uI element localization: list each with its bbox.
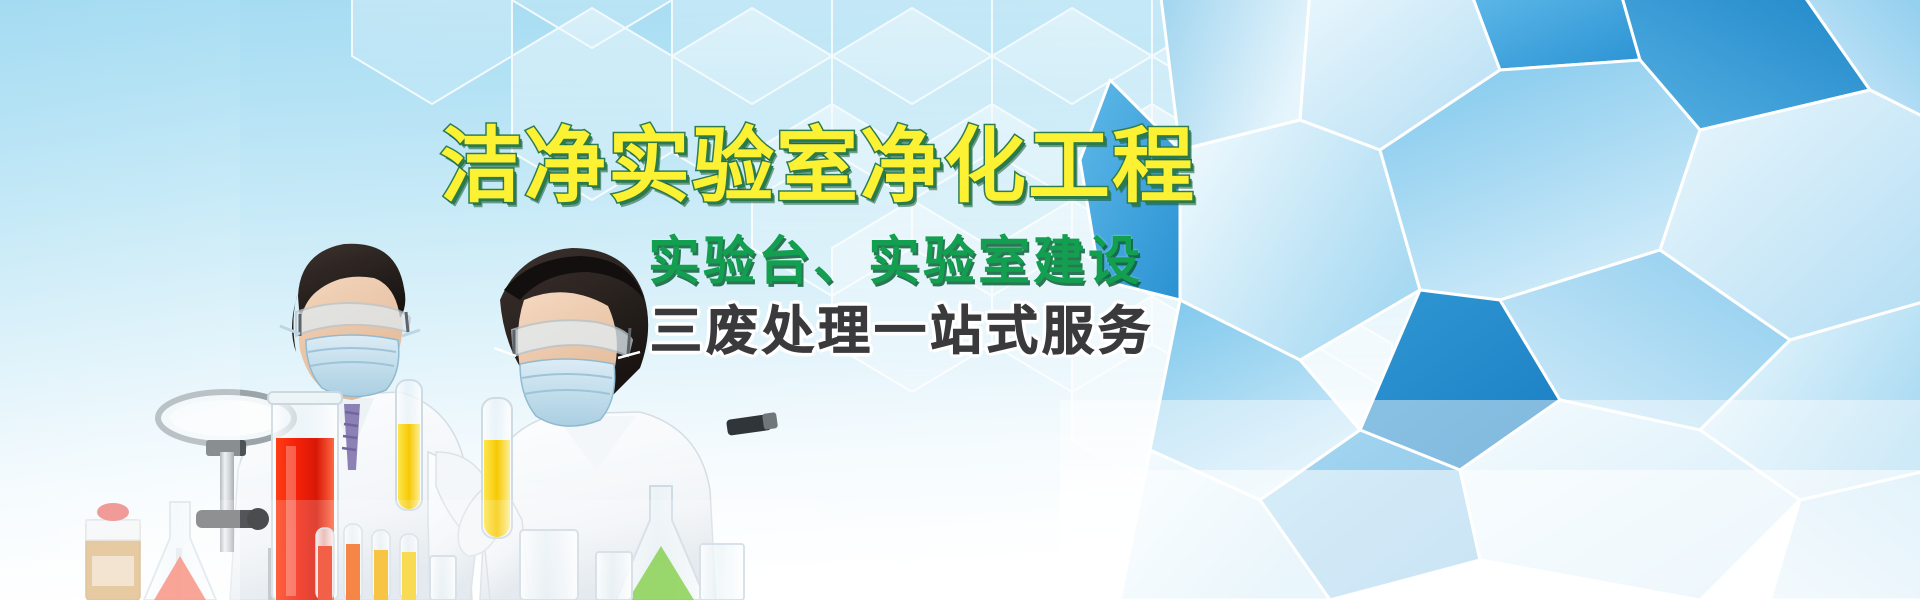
banner-tagline: 三废处理一站式服务 (650, 306, 1154, 358)
banner-subheadline: 实验台、实验室建设 (648, 236, 1143, 288)
promo-banner: 洁净实验室净化工程 实验台、实验室建设 三废处理一站式服务 (0, 0, 1920, 600)
headline-text-block: 洁净实验室净化工程 实验台、实验室建设 三废处理一站式服务 (440, 126, 1200, 426)
banner-headline: 洁净实验室净化工程 (440, 126, 1196, 208)
test-tube-yellow-2 (396, 380, 422, 510)
